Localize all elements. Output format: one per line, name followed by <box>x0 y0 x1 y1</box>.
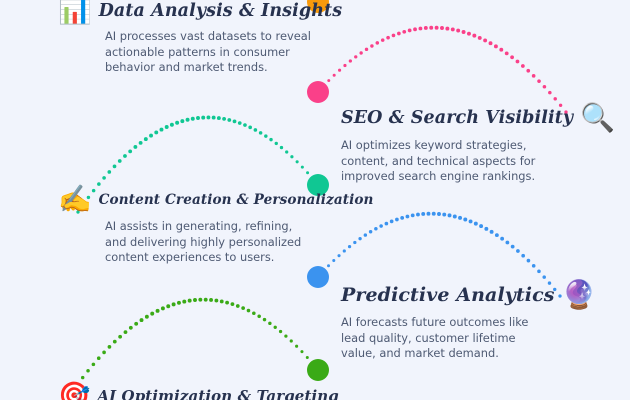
section-header-ai-optimization: 🎯 AI Optimization & Targeting <box>58 383 339 400</box>
section-title-predictive: Predictive Analytics <box>341 284 555 306</box>
node-green <box>307 359 329 381</box>
writing-hand-icon: ✍️ <box>58 186 92 213</box>
infographic-canvas: 📊 Data Analysis & Insights AI processes … <box>0 0 630 400</box>
section-body-seo: AI optimizes keyword strategies, content… <box>341 138 615 185</box>
node-blue <box>307 266 329 288</box>
section-seo-search-visibility: SEO & Search Visibility 🔍 AI optimizes k… <box>341 104 615 185</box>
node-pink <box>307 81 329 103</box>
section-content-creation: ✍️ Content Creation & Personalization AI… <box>58 186 374 266</box>
section-body-data-analysis: AI processes vast datasets to reveal act… <box>105 29 342 76</box>
section-header-predictive: Predictive Analytics 🔮 <box>341 281 596 309</box>
section-title-ai-optimization: AI Optimization & Targeting <box>97 387 339 400</box>
section-body-predictive: AI forecasts future outcomes like lead q… <box>341 315 596 362</box>
section-header-data-analysis: 📊 Data Analysis & Insights <box>58 0 342 24</box>
dart-icon: 🎯 <box>58 383 90 400</box>
arc-pink <box>317 26 568 114</box>
magnifying-glass-icon: 🔍 <box>580 104 615 132</box>
section-title-seo: SEO & Search Visibility <box>341 108 573 128</box>
section-title-content-creation: Content Creation & Personalization <box>99 192 374 208</box>
section-data-analysis: 📊 Data Analysis & Insights AI processes … <box>58 0 342 76</box>
section-body-content-creation: AI assists in generating, refining, and … <box>105 219 374 266</box>
section-header-content-creation: ✍️ Content Creation & Personalization <box>58 186 374 213</box>
section-header-seo: SEO & Search Visibility 🔍 <box>341 104 615 132</box>
section-title-data-analysis: Data Analysis & Insights <box>99 1 343 21</box>
arc-green <box>70 298 319 394</box>
crystal-ball-icon: 🔮 <box>562 281 597 309</box>
section-predictive-analytics: Predictive Analytics 🔮 AI forecasts futu… <box>341 281 596 362</box>
bar-chart-icon: 📊 <box>58 0 92 24</box>
section-ai-optimization: 🎯 AI Optimization & Targeting <box>58 383 339 400</box>
